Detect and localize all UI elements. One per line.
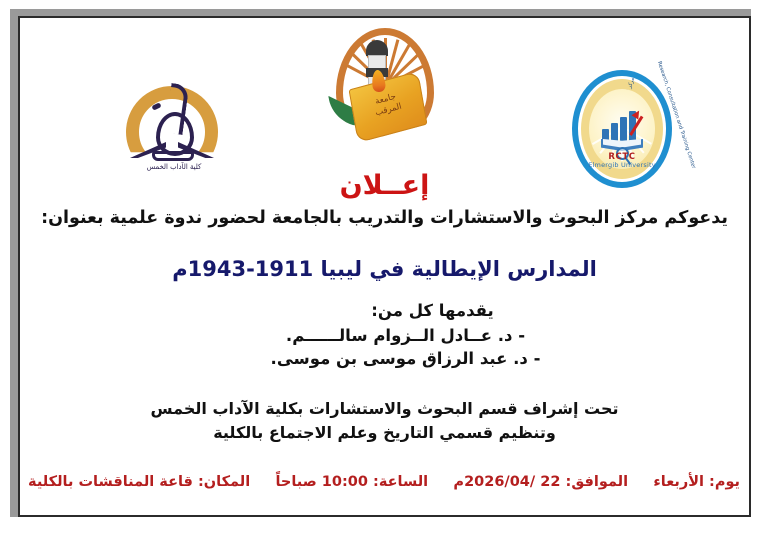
event-day: يوم: الأربعاء xyxy=(653,474,740,490)
lighthouse-dome-shape xyxy=(366,40,388,56)
event-date-label: الموافق: xyxy=(566,474,629,490)
event-time: الساعة: 10:00 صباحاً xyxy=(275,474,428,490)
faculty-of-arts-logo: كلية الآداب الخمس xyxy=(112,78,236,178)
supervision-line: تحت إشراف قسم البحوث والاستشارات بكلية ا… xyxy=(20,399,749,418)
event-place-value: قاعة المناقشات بالكلية xyxy=(28,474,193,490)
invitation-line: يدعوكم مركز البحوث والاستشارات والتدريب … xyxy=(20,208,749,228)
logo-row: كلية الآداب الخمس xyxy=(20,18,749,176)
bar-chart-bar xyxy=(620,117,627,143)
faculty-base-shape xyxy=(152,151,194,161)
page-title: إعــلان xyxy=(20,170,749,201)
event-place-label: المكان: xyxy=(198,474,250,490)
event-details-bar: يوم: الأربعاء الموافق: 22 /2026/04م السا… xyxy=(28,474,740,490)
speaker-item: - د. عبد الرزاق موسى بن موسى. xyxy=(20,349,749,368)
event-day-value: الأربعاء xyxy=(653,474,704,490)
event-day-label: يوم: xyxy=(709,474,740,490)
event-time-value: 10:00 صباحاً xyxy=(275,474,367,490)
event-time-label: الساعة: xyxy=(373,474,428,490)
university-logo: جامعة المرقب xyxy=(322,24,448,170)
organization-line: وتنظيم قسمي التاريخ وعلم الاجتماع بالكلي… xyxy=(20,423,749,442)
rctc-university-name: Elmergib University xyxy=(560,161,684,169)
speaker-item: - د. عــادل الــزوام سالــــــم. xyxy=(20,326,749,345)
announcement-poster: كلية الآداب الخمس xyxy=(0,0,768,535)
seminar-title: المدارس الإيطالية في ليبيا 1911-1943م xyxy=(20,257,749,281)
poster-sheet: كلية الآداب الخمس xyxy=(20,18,749,515)
presented-by-label: يقدمها كل من: xyxy=(20,301,749,320)
event-place: المكان: قاعة المناقشات بالكلية xyxy=(28,474,250,490)
event-date-value: 22 /2026/04م xyxy=(453,474,560,490)
event-date: الموافق: 22 /2026/04م xyxy=(453,474,628,490)
